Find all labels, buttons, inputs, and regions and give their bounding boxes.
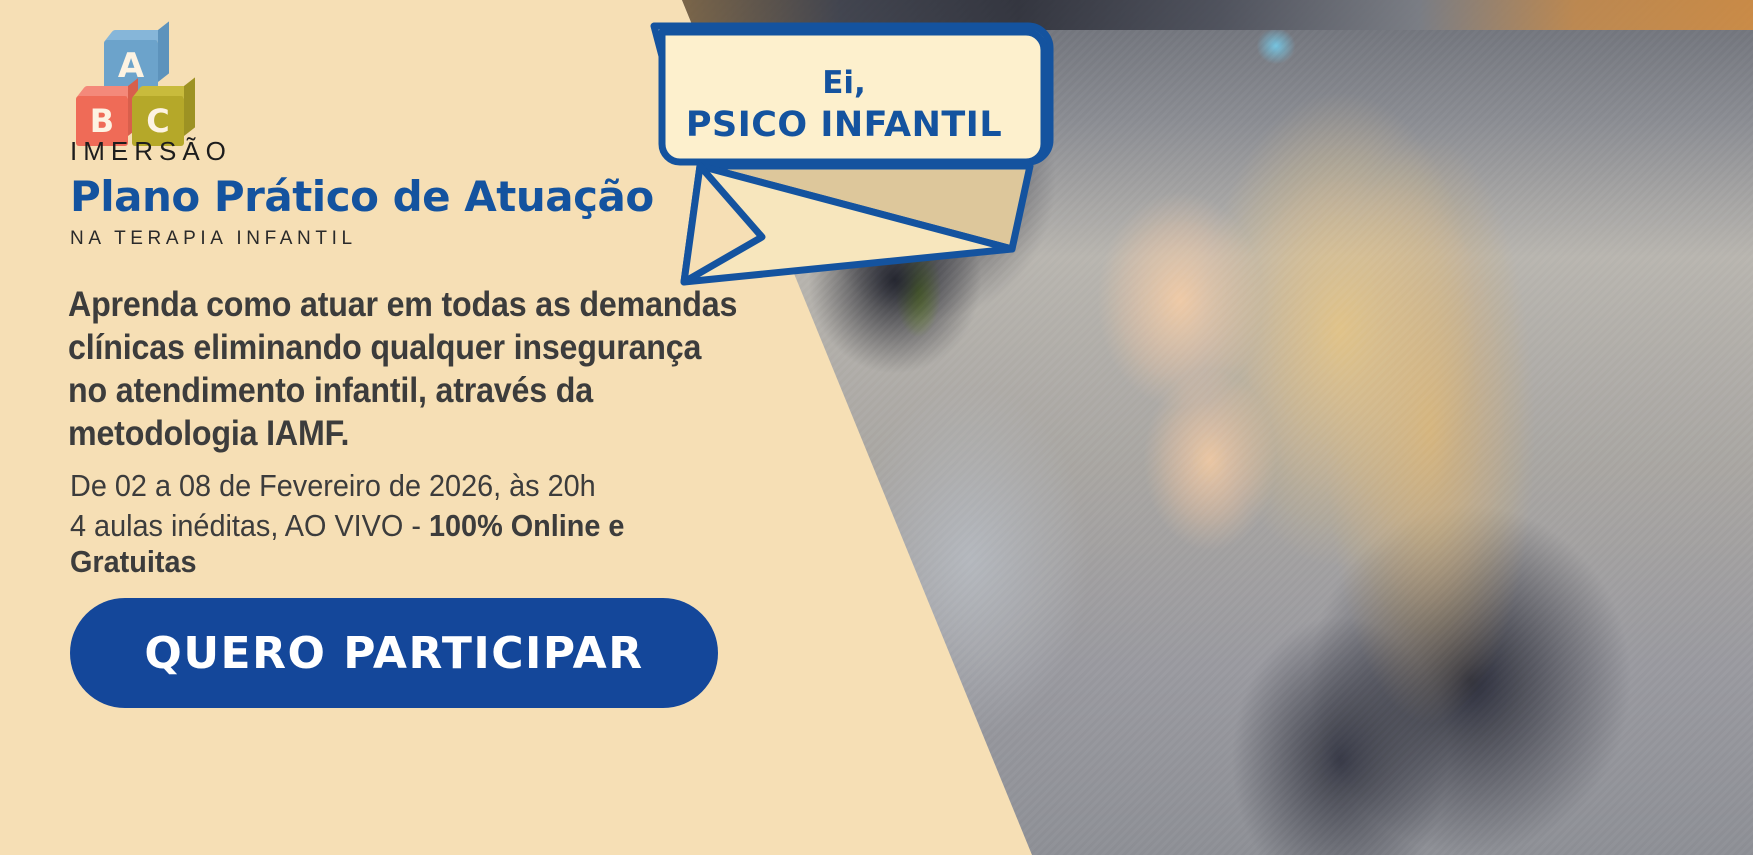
body-paragraph: Aprenda como atuar em todas as demandas … xyxy=(68,283,749,455)
event-date-line: De 02 a 08 de Fevereiro de 2026, às 20h xyxy=(70,468,596,504)
content-panel: A B C IMERSÃO Plano Prático de Atuação N… xyxy=(0,0,700,855)
event-format-line: 4 aulas inéditas, AO VIVO - 100% Online … xyxy=(70,508,656,580)
photo-background-strip xyxy=(640,0,1753,30)
promo-banner: A B C IMERSÃO Plano Prático de Atuação N… xyxy=(0,0,1753,855)
speech-bubble-line-1: Ei, xyxy=(822,63,866,103)
speech-bubble-line-2: PSICO INFANTIL xyxy=(686,103,1002,147)
event-format-prefix: 4 aulas inéditas, AO VIVO - xyxy=(70,508,429,543)
page-title: Plano Prático de Atuação xyxy=(70,172,654,221)
speech-bubble-text: Ei, PSICO INFANTIL xyxy=(646,44,1042,166)
quero-participar-button[interactable]: QUERO PARTICIPAR xyxy=(70,598,718,708)
eyebrow-text: IMERSÃO xyxy=(70,136,232,167)
subtitle-text: NA TERAPIA INFANTIL xyxy=(70,228,357,250)
abc-blocks-logo: A B C xyxy=(70,28,198,138)
